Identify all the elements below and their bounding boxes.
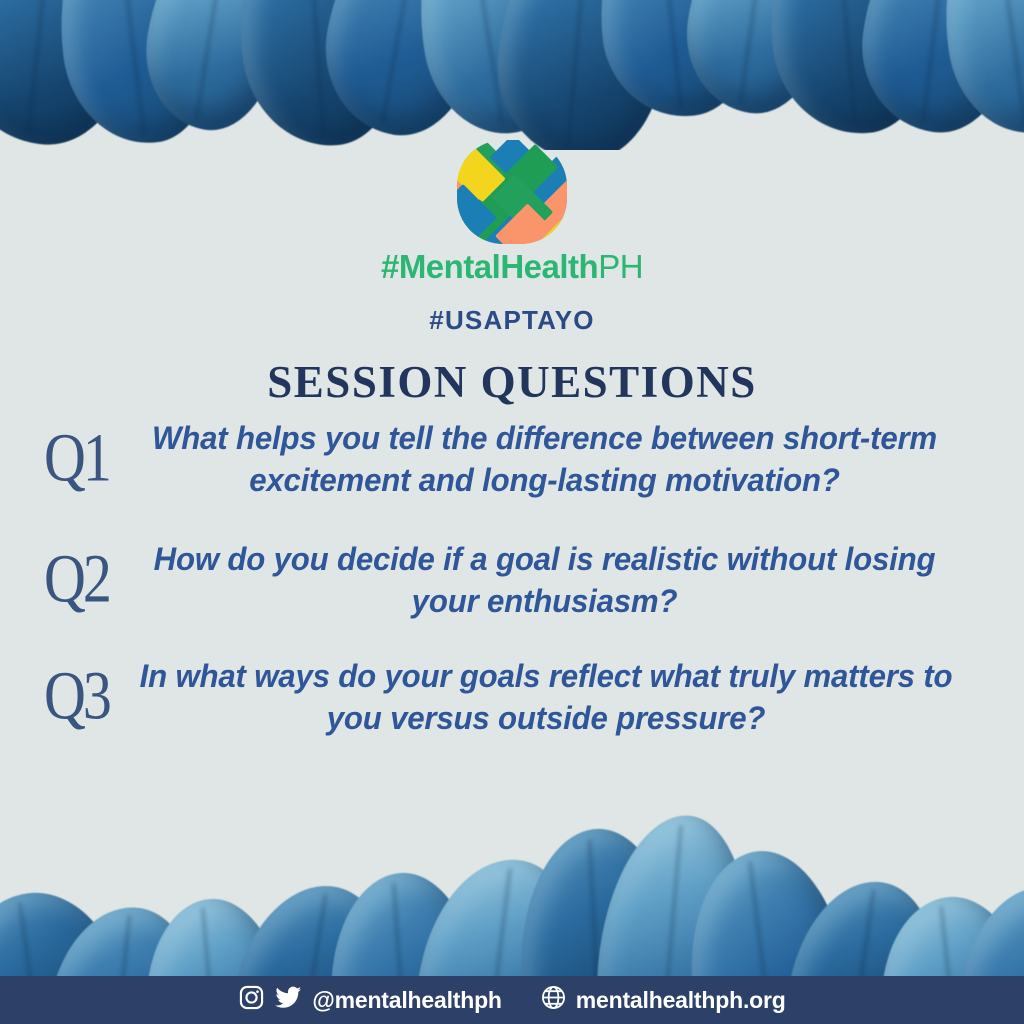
poster-canvas: #MentalHealthPH #USAPTAYO SESSION QUESTI… bbox=[0, 0, 1024, 1024]
question-number: Q2 bbox=[44, 545, 109, 613]
social-handle-text[interactable]: @mentalhealthph bbox=[312, 989, 501, 1012]
bottom-floral-border bbox=[0, 811, 1024, 976]
question-text: In what ways do your goals reflect what … bbox=[126, 656, 967, 739]
brand-hashtag: #MentalHealthPH bbox=[0, 250, 1024, 283]
footer-bar: @mentalhealthph mentalhealthph.org bbox=[0, 976, 1024, 1024]
website-group: mentalhealthph.org bbox=[540, 984, 786, 1016]
questions-list: Q1 What helps you tell the difference be… bbox=[0, 418, 1024, 762]
question-text: How do you decide if a goal is realistic… bbox=[137, 539, 952, 622]
question-text: What helps you tell the difference betwe… bbox=[137, 418, 952, 501]
question-item: Q1 What helps you tell the difference be… bbox=[0, 418, 1024, 501]
campaign-hashtag: #USAPTAYO bbox=[0, 305, 1024, 336]
page-title: SESSION QUESTIONS bbox=[0, 356, 1024, 408]
question-item: Q3 In what ways do your goals reflect wh… bbox=[0, 656, 1024, 739]
brand-hashtag-bold: #MentalHealth bbox=[381, 248, 598, 285]
question-item: Q2 How do you decide if a goal is realis… bbox=[0, 539, 1024, 622]
top-floral-border bbox=[0, 0, 1024, 150]
website-text[interactable]: mentalhealthph.org bbox=[576, 989, 786, 1012]
social-handle-group: @mentalhealthph bbox=[238, 984, 501, 1016]
logo bbox=[457, 140, 567, 244]
instagram-icon[interactable] bbox=[238, 984, 265, 1016]
twitter-bird-icon[interactable] bbox=[274, 984, 303, 1016]
brand-hashtag-light: PH bbox=[598, 248, 643, 285]
question-number: Q1 bbox=[44, 424, 109, 492]
globe-icon[interactable] bbox=[540, 984, 567, 1016]
question-number: Q3 bbox=[44, 662, 109, 730]
logo-mark bbox=[457, 140, 567, 244]
